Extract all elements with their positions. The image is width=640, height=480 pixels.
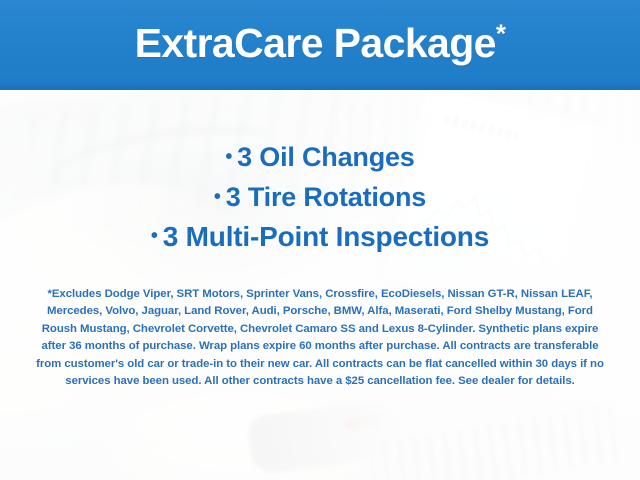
- bullet-dot-icon: •: [225, 146, 232, 168]
- benefit-item-label: 3 Multi-Point Inspections: [163, 221, 489, 252]
- benefit-item-oil-changes: •3 Oil Changes: [0, 138, 640, 178]
- benefit-item-multi-point-inspections: •3 Multi-Point Inspections: [0, 218, 640, 258]
- bullet-dot-icon: •: [214, 186, 221, 208]
- benefits-list: •3 Oil Changes •3 Tire Rotations •3 Mult…: [0, 138, 640, 257]
- disclaimer-text: *Excludes Dodge Viper, SRT Motors, Sprin…: [28, 286, 612, 390]
- extracare-promo-banner: ExtraCare Package* •3 Oil Changes •3 Tir…: [0, 0, 640, 480]
- page-title-text: ExtraCare Package: [135, 20, 496, 66]
- page-title-asterisk: *: [496, 18, 506, 48]
- benefit-item-tire-rotations: •3 Tire Rotations: [0, 178, 640, 218]
- benefit-item-label: 3 Tire Rotations: [226, 182, 426, 212]
- header-banner: ExtraCare Package*: [0, 0, 640, 90]
- benefit-item-label: 3 Oil Changes: [237, 142, 414, 172]
- page-title: ExtraCare Package*: [135, 23, 506, 64]
- bullet-dot-icon: •: [151, 225, 158, 247]
